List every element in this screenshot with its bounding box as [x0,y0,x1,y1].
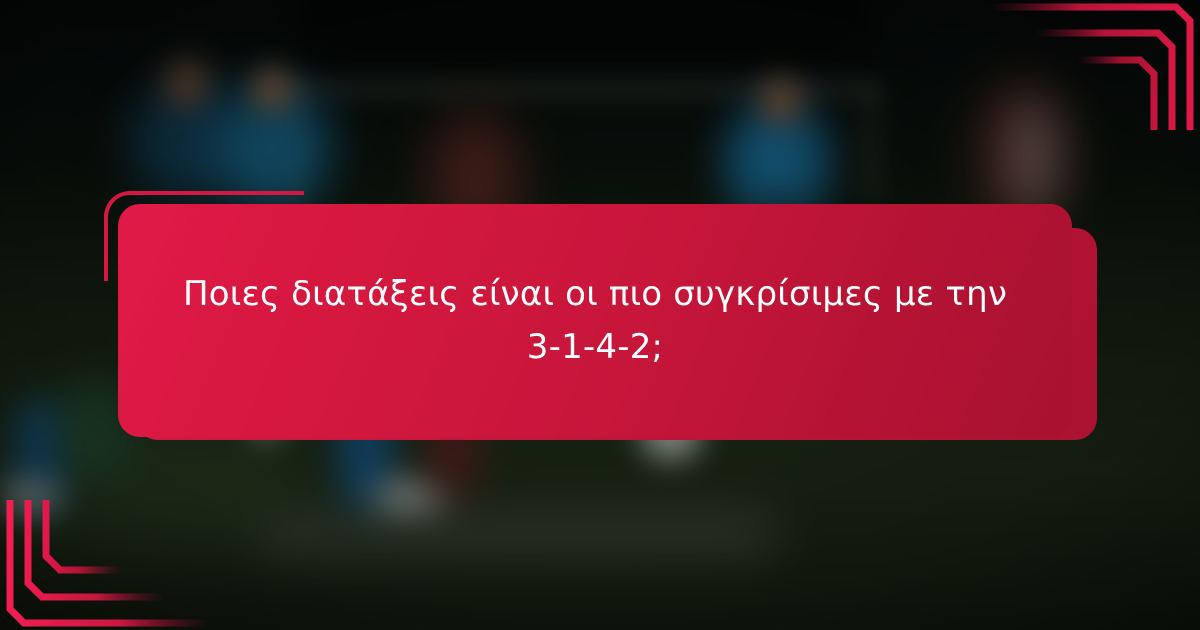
question-title: Ποιες διατάξεις είναι οι πιο συγκρίσιμες… [176,268,1014,373]
question-card: Ποιες διατάξεις είναι οι πιο συγκρίσιμες… [118,204,1072,437]
social-card-stage: Ποιες διατάξεις είναι οι πιο συγκρίσιμες… [0,0,1200,630]
question-card-stack: Ποιες διατάξεις είναι οι πιο συγκρίσιμες… [0,0,1200,630]
